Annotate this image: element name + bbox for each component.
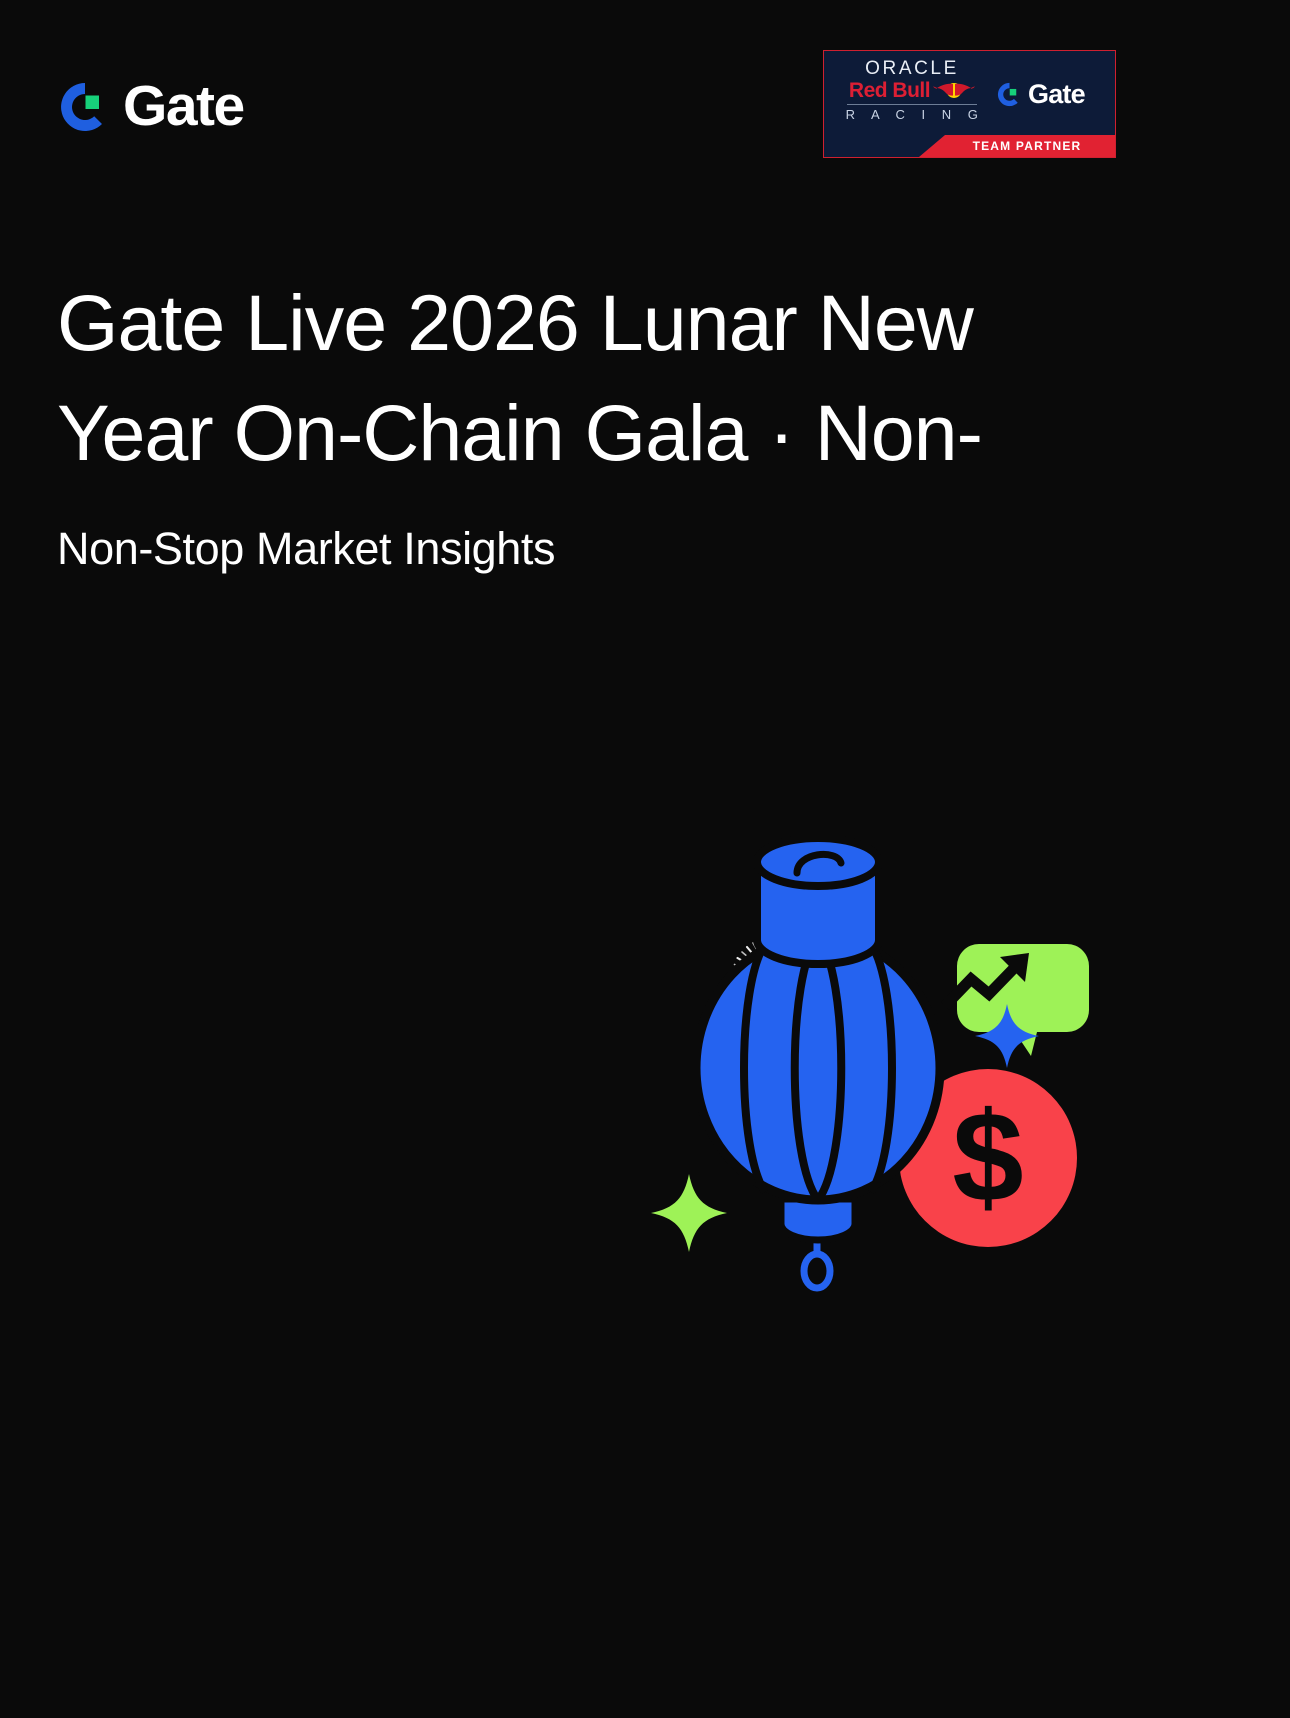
badge-gate-logo: Gate (996, 79, 1085, 110)
poster-page: Gate ORACLE Red Bull R A C I N G (0, 0, 1290, 1718)
gate-logo-mark-icon (996, 81, 1023, 108)
racing-wordmark: R A C I N G (840, 108, 985, 121)
gate-logo-mark-icon (57, 79, 113, 135)
gate-logo-wordmark: Gate (123, 78, 244, 135)
page-subtitle: Non-Stop Market Insights (57, 520, 555, 578)
red-bull-racing-lockup: ORACLE Red Bull R A C I N G (838, 59, 986, 121)
lunar-new-year-lantern-illustration: $ (637, 826, 1097, 1306)
red-bull-wordmark: Red Bull (849, 80, 930, 101)
oracle-red-bull-racing-team-partner-badge[interactable]: ORACLE Red Bull R A C I N G (823, 50, 1116, 158)
paper-lantern-icon (696, 838, 940, 1288)
four-point-sparkle-green-icon (651, 1174, 727, 1252)
red-bull-row: Red Bull (849, 80, 975, 101)
svg-text:$: $ (952, 1086, 1023, 1229)
team-partner-ribbon: TEAM PARTNER (919, 135, 1115, 157)
page-title: Gate Live 2026 Lunar New Year On-Chain G… (57, 268, 1067, 483)
team-partner-label: TEAM PARTNER (953, 139, 1082, 153)
red-bull-charging-bulls-icon (933, 81, 975, 99)
badge-gate-wordmark: Gate (1028, 79, 1085, 110)
oracle-wordmark: ORACLE (865, 59, 959, 79)
gate-logo[interactable]: Gate (57, 78, 244, 135)
badge-divider (847, 104, 977, 105)
